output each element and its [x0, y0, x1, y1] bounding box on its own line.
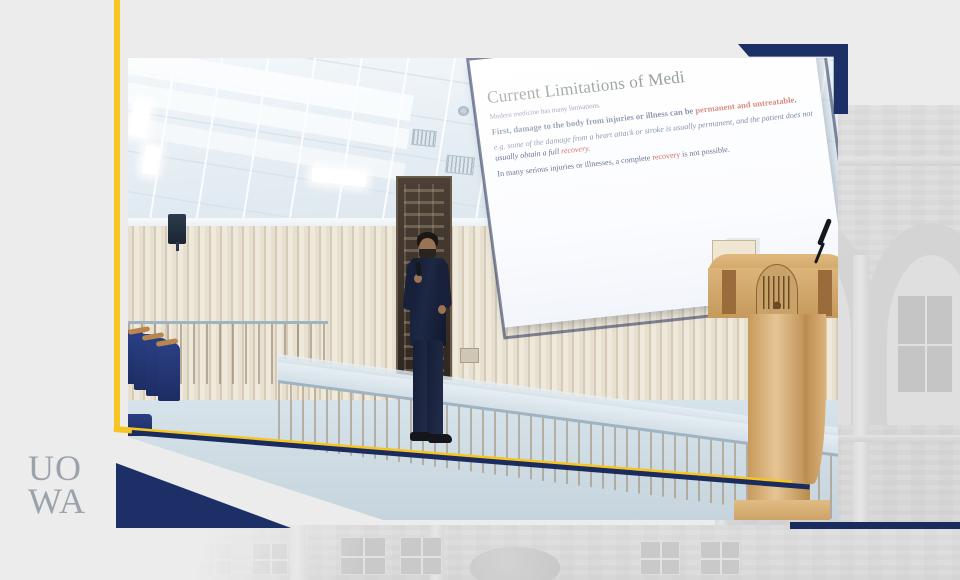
- ceiling-air-vent: [411, 129, 437, 147]
- backdrop-fade: [0, 522, 360, 580]
- podium-emblem: [756, 264, 798, 318]
- uowa-logo: UO WA: [28, 452, 110, 518]
- ceiling-air-vent: [445, 155, 475, 176]
- yellow-vertical-rule: [114, 0, 120, 430]
- poster-canvas: Current Limitations of Medi Modern medic…: [0, 0, 960, 580]
- event-photograph: Current Limitations of Medi Modern medic…: [128, 58, 838, 520]
- wall-outlet: [460, 348, 479, 363]
- wall-speaker: [168, 214, 186, 244]
- logo-line-2: WA: [28, 485, 110, 518]
- navy-horizontal-bar: [790, 522, 960, 529]
- ceiling-fan: [458, 106, 469, 116]
